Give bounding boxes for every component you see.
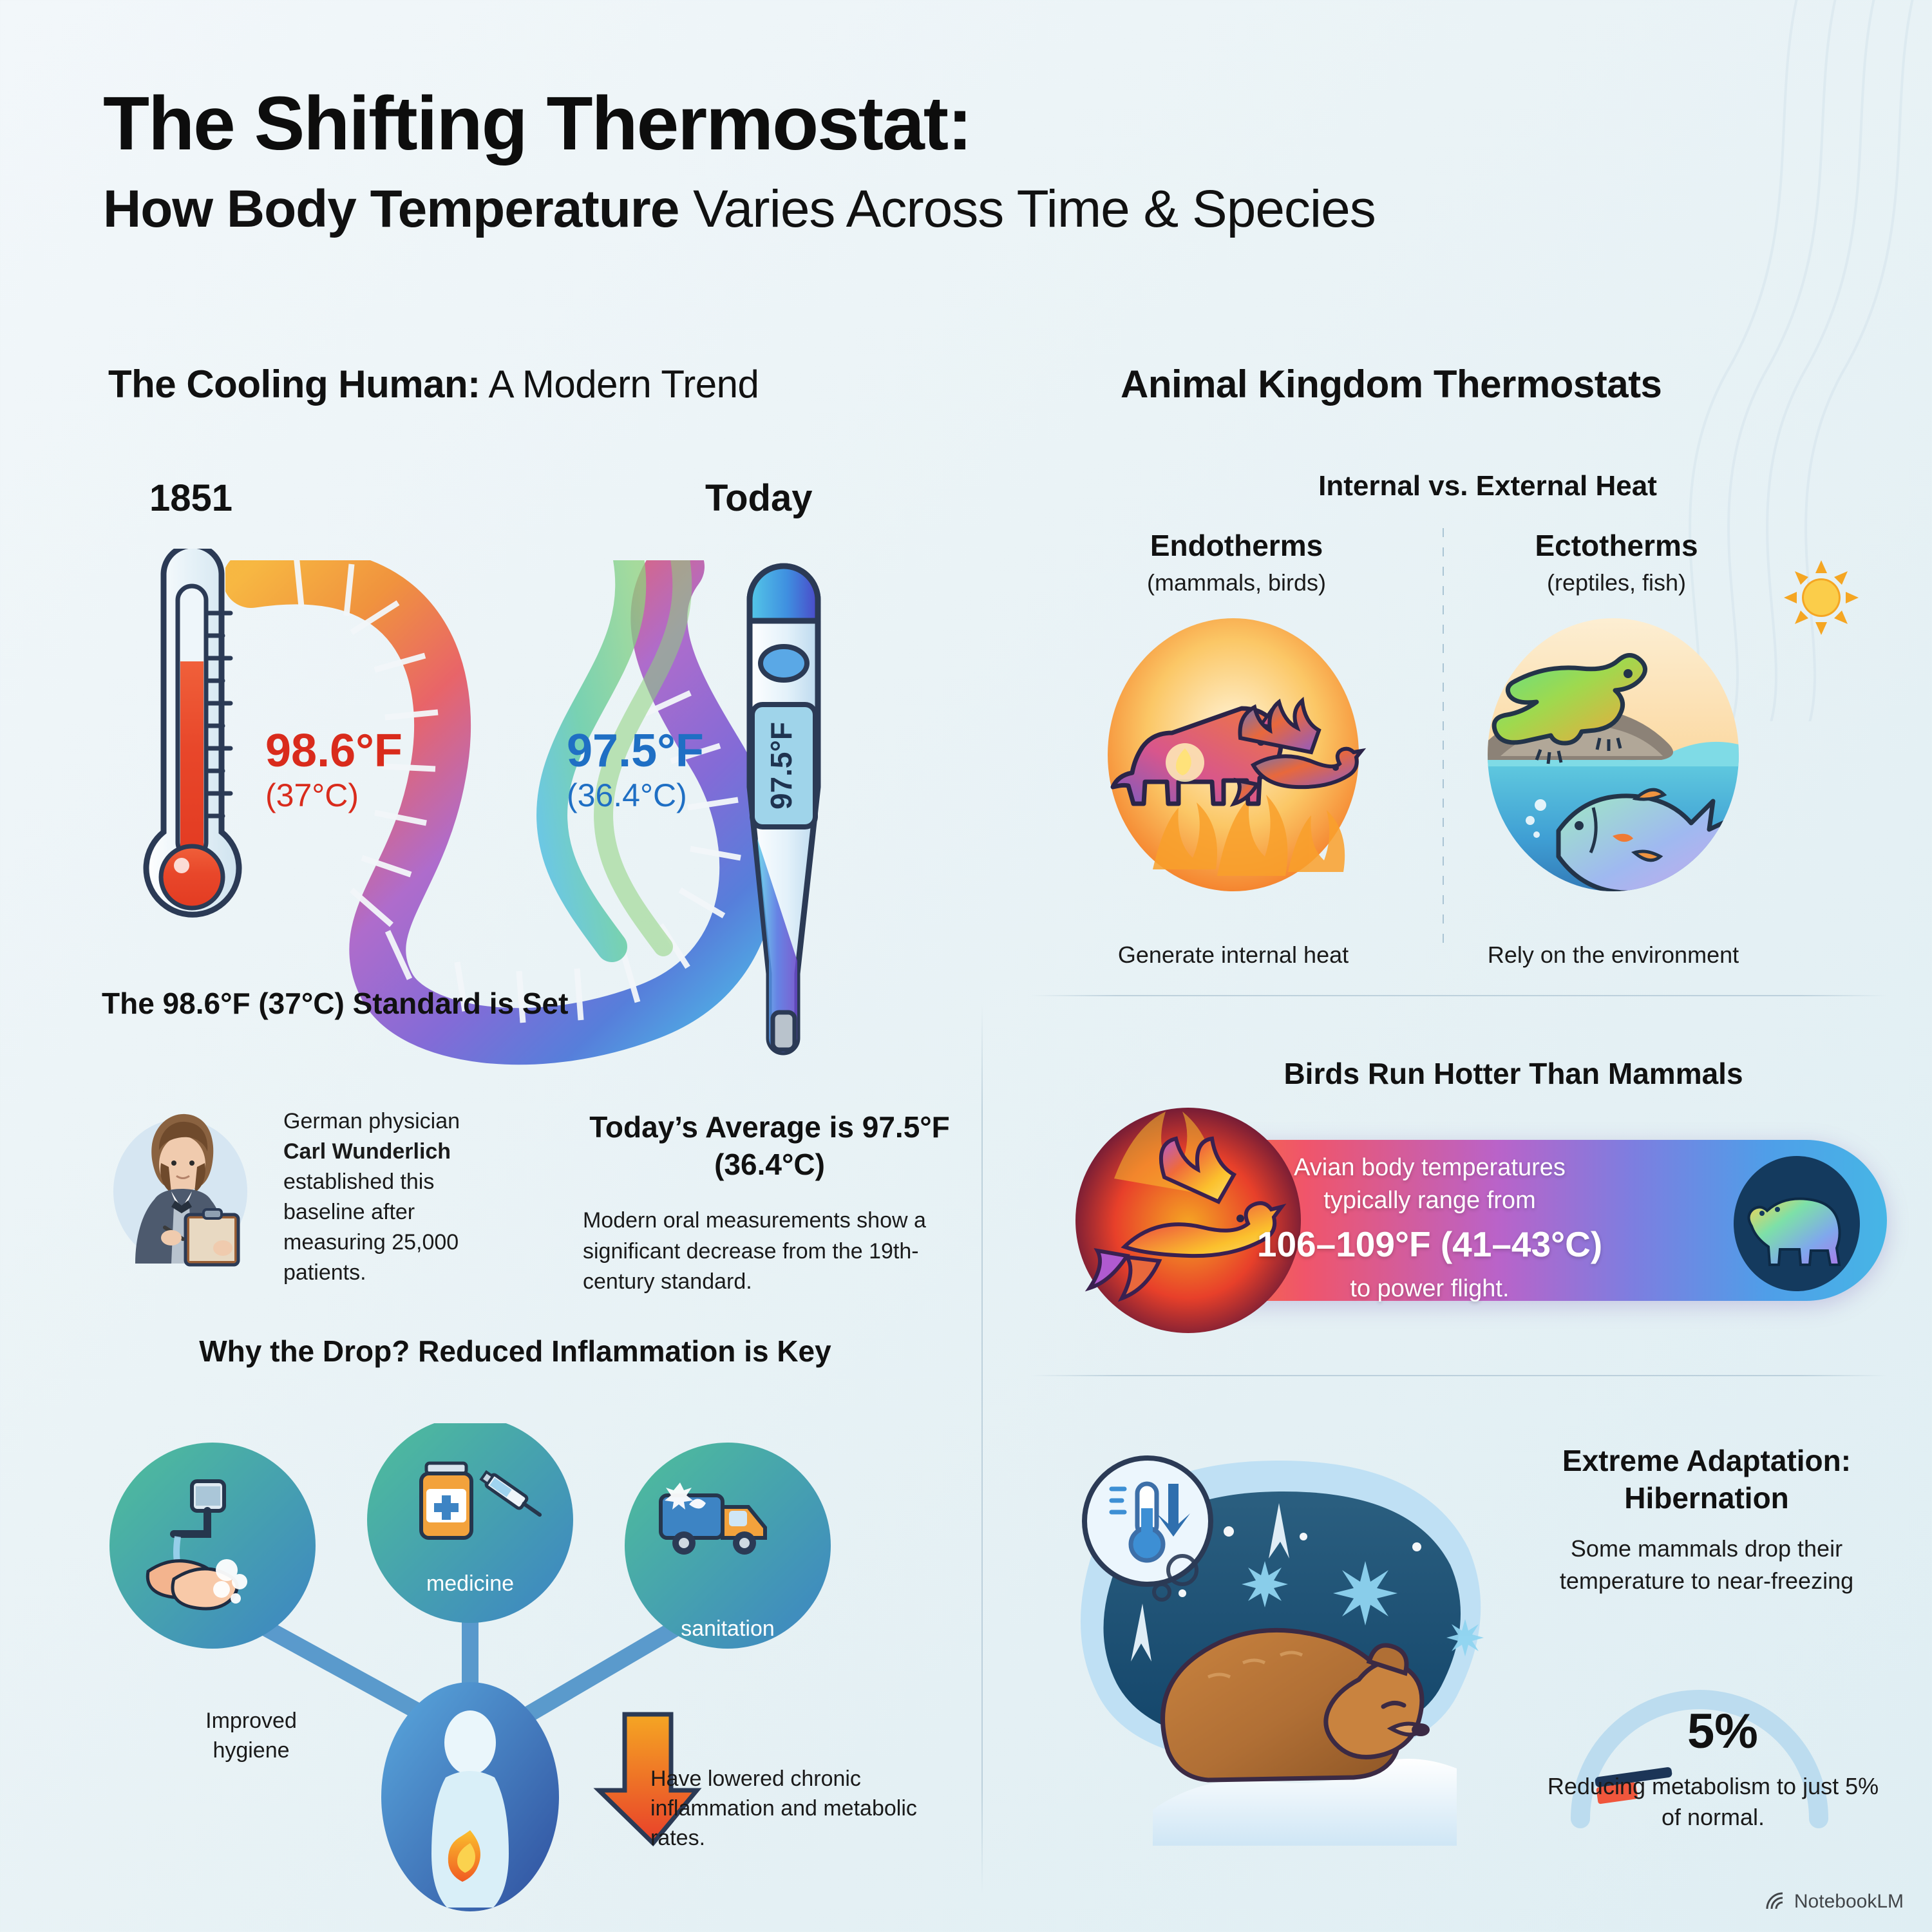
page-title: The Shifting Thermostat:	[103, 84, 1842, 164]
left-heading-rest: A Modern Trend	[480, 363, 759, 406]
endotherms-caption: Generate internal heat	[1082, 942, 1385, 969]
temp-today-fahrenheit: 97.5°F	[567, 728, 704, 774]
ectotherms-caption: Rely on the environment	[1462, 942, 1765, 969]
sun-icon	[1783, 559, 1860, 636]
birds-line-1: Avian body temperatures	[1294, 1154, 1566, 1181]
birds-line-3: to power flight.	[1350, 1275, 1509, 1302]
metabolism-gauge-value: 5%	[1687, 1703, 1758, 1759]
notebooklm-label: NotebookLM	[1794, 1891, 1904, 1913]
right-panel-divider-bottom	[1030, 1375, 1887, 1376]
wunderlich-portrait-icon	[109, 1095, 264, 1269]
metabolism-gauge-caption: Reducing metabolism to just 5% of normal…	[1546, 1771, 1880, 1833]
right-panel-divider-top	[1030, 995, 1887, 996]
internal-vs-external-heading: Internal vs. External Heat	[1108, 470, 1868, 502]
hygiene-label: Improved hygiene	[180, 1707, 322, 1766]
hibernation-heading-line2: Hibernation	[1624, 1481, 1789, 1515]
birds-temperature-range: 106–109°F (41–43°C)	[1185, 1221, 1674, 1269]
temp-1851-celsius: (37°C)	[265, 774, 402, 818]
mammal-badge-illustration	[1726, 1153, 1868, 1294]
notebooklm-watermark: NotebookLM	[1765, 1891, 1904, 1913]
digital-thermometer-reading: 97.5°F	[764, 722, 798, 810]
ectotherms-subtitle: (reptiles, fish)	[1449, 569, 1784, 596]
left-section-heading: The Cooling Human: A Modern Trend	[108, 362, 759, 406]
ectotherms-illustration	[1475, 599, 1752, 902]
left-heading-emphasis: The Cooling Human:	[108, 363, 480, 406]
temperature-today: 97.5°F (36.4°C)	[567, 728, 704, 818]
ectotherms-title: Ectotherms	[1449, 528, 1784, 563]
wunderlich-body-pre: German physician	[283, 1109, 460, 1133]
endo-ecto-divider	[1443, 528, 1444, 947]
temp-today-celsius: (36.4°C)	[567, 774, 704, 818]
hibernation-heading: Extreme Adaptation: Hibernation	[1533, 1443, 1880, 1517]
endotherms-illustration	[1095, 599, 1372, 902]
digital-thermometer-icon: 97.5°F	[726, 562, 841, 1077]
page-title-block: The Shifting Thermostat: How Body Temper…	[103, 84, 1842, 241]
today-average-body: Modern oral measurements show a signific…	[583, 1206, 956, 1298]
sanitation-label: sanitation	[631, 1616, 824, 1642]
birds-panel-text: Avian body temperatures typically range …	[1185, 1151, 1674, 1305]
year-label-1851: 1851	[149, 477, 232, 520]
notebooklm-logo-icon	[1765, 1891, 1786, 1913]
hibernating-bear-illustration	[1056, 1449, 1507, 1874]
right-section-heading: Animal Kingdom Thermostats	[1121, 362, 1662, 406]
endotherms-subtitle: (mammals, birds)	[1069, 569, 1404, 596]
wunderlich-body: German physician Carl Wunderlich establi…	[283, 1106, 483, 1287]
why-drop-heading: Why the Drop? Reduced Inflammation is Ke…	[193, 1333, 837, 1370]
wunderlich-heading: The 98.6°F (37°C) Standard is Set	[102, 985, 568, 1022]
wunderlich-name: Carl Wunderlich	[283, 1139, 451, 1164]
page-subtitle: How Body Temperature Varies Across Time …	[103, 178, 1842, 241]
hibernation-heading-line1: Extreme Adaptation:	[1562, 1444, 1851, 1477]
medicine-label: medicine	[374, 1571, 567, 1596]
wunderlich-body-post: established this baseline after measurin…	[283, 1170, 459, 1285]
subtitle-rest: Varies Across Time & Species	[679, 180, 1375, 238]
lowered-inflammation-label: Have lowered chronic inflammation and me…	[650, 1765, 934, 1853]
column-divider	[981, 1005, 983, 1893]
birds-heading: Birds Run Hotter Than Mammals	[1140, 1056, 1887, 1091]
subtitle-emphasis: How Body Temperature	[103, 180, 679, 238]
hibernation-body: Some mammals drop their temperature to n…	[1533, 1533, 1880, 1596]
temperature-1851: 98.6°F (37°C)	[265, 728, 402, 818]
temp-1851-fahrenheit: 98.6°F	[265, 728, 402, 774]
today-average-heading: Today’s Average is 97.5°F (36.4°C)	[583, 1109, 956, 1184]
birds-line-2: typically range from	[1323, 1187, 1535, 1214]
year-label-today: Today	[705, 477, 813, 520]
endotherms-title: Endotherms	[1069, 528, 1404, 563]
classic-thermometer-icon	[126, 549, 259, 961]
